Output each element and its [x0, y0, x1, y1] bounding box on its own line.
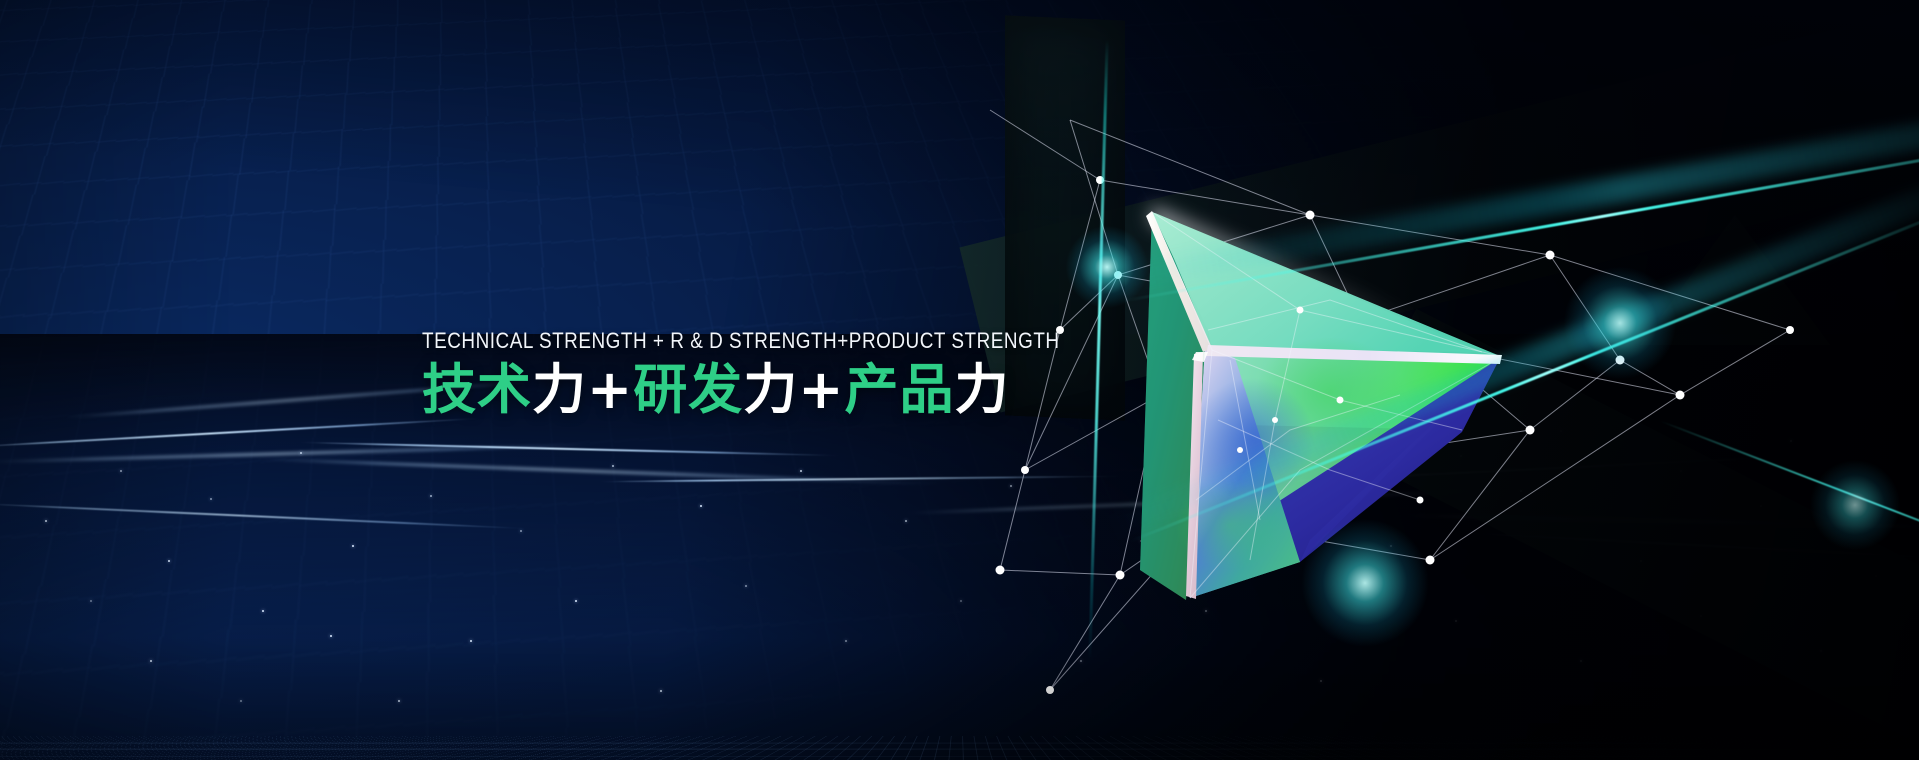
hero-banner: TECHNICAL STRENGTH + R & D STRENGTH+PROD…	[0, 0, 1919, 760]
eyebrow-text: TECHNICAL STRENGTH + R & D STRENGTH+PROD…	[422, 330, 1060, 352]
headline-part-2: 力	[532, 358, 587, 421]
headline-plus-2: +	[798, 358, 844, 421]
headline-plus-1: +	[587, 358, 633, 421]
headline-part-1: 技术	[422, 358, 532, 421]
headline-block: TECHNICAL STRENGTH + R & D STRENGTH+PROD…	[422, 330, 1163, 419]
headline-part-3: 研发	[633, 358, 743, 421]
page-title: 技术力+研发力+产品力	[422, 362, 1163, 419]
headline-part-5: 产品	[845, 358, 955, 421]
headline-part-4: 力	[743, 358, 798, 421]
headline-part-6: 力	[955, 358, 1010, 421]
